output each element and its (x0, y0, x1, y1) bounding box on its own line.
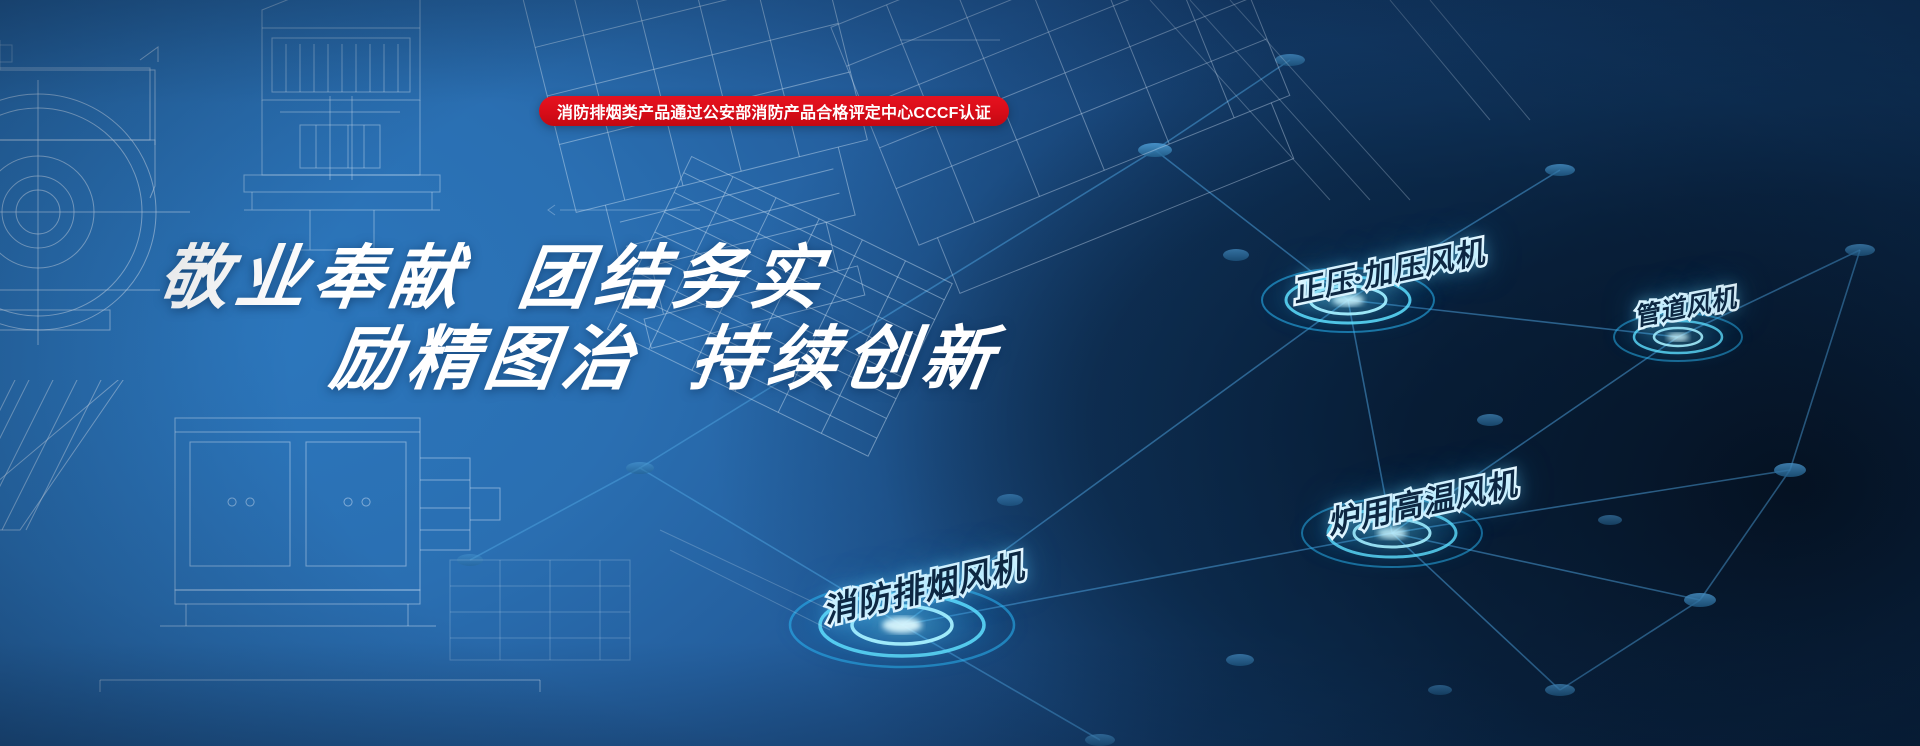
slogan-line-2-part-a: 励精图治 (326, 322, 645, 399)
blueprint-fragments (430, 520, 850, 746)
slogan-line-2-part-b: 持续创新 (686, 322, 1005, 399)
slogan-line-2: 励精图治持续创新 (325, 303, 1007, 404)
certification-badge-label: 消防排烟类产品通过公安部消防产品合格评定中心CCCF认证 (557, 99, 991, 123)
certification-badge[interactable]: 消防排烟类产品通过公安部消防产品合格评定中心CCCF认证 (539, 96, 1009, 126)
hero-banner: 敬业奉献团结务实 励精图治持续创新 消防排烟类产品通过公安部消防产品合格评定中心… (0, 0, 1920, 746)
